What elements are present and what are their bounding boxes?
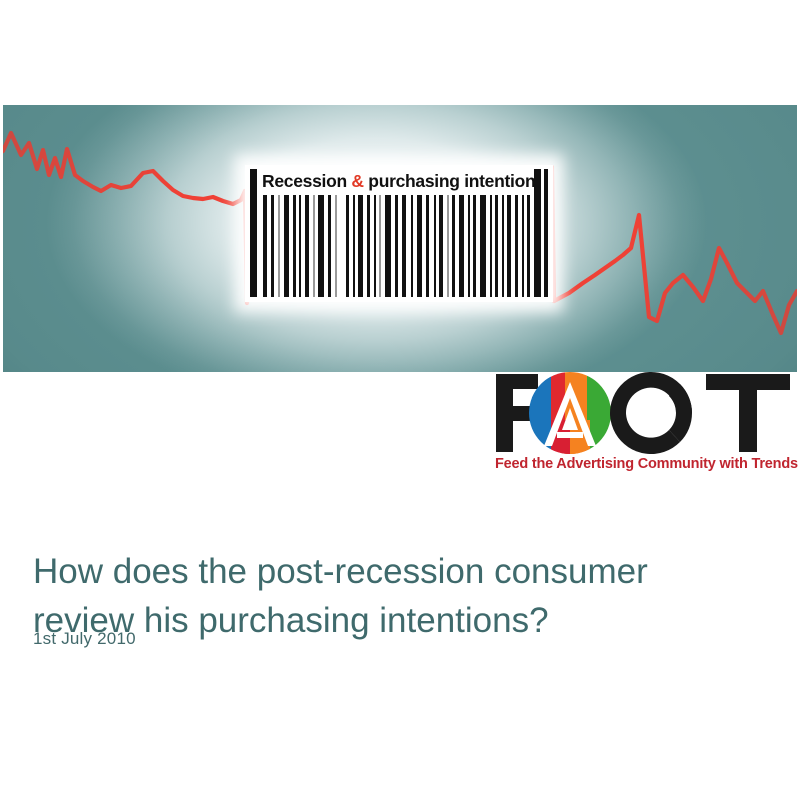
barcode-bars — [261, 195, 531, 297]
presentation-date: 1st July 2010 — [33, 629, 136, 649]
fact-logo-letters — [492, 372, 794, 454]
barcode-guard-bar-left — [250, 169, 257, 297]
barcode-guard-bar-right — [534, 169, 541, 297]
logo-letter-t — [706, 374, 790, 452]
chart-line-right — [554, 215, 797, 333]
page-title-line-1: How does the post-recession consumer — [33, 547, 753, 596]
page-title-line-2: review his purchasing intentions? — [33, 596, 753, 645]
barcode-guard-bar-right-thin — [544, 169, 548, 297]
barcode-title: Recession & purchasing intention — [262, 168, 540, 194]
chart-line-left — [3, 133, 245, 204]
barcode-title-ampersand: & — [351, 171, 363, 191]
recession-banner: Recession & purchasing intention — [3, 105, 797, 372]
barcode-graphic: Recession & purchasing intention — [245, 165, 553, 302]
fact-logo: Feed the Advertising Community with Tren… — [492, 372, 794, 477]
logo-letter-c — [610, 372, 692, 454]
barcode-title-suffix: purchasing intention — [364, 171, 536, 191]
barcode-title-prefix: Recession — [262, 171, 351, 191]
page-title: How does the post-recession consumer rev… — [33, 547, 753, 645]
fact-logo-tagline: Feed the Advertising Community with Tren… — [495, 456, 794, 472]
